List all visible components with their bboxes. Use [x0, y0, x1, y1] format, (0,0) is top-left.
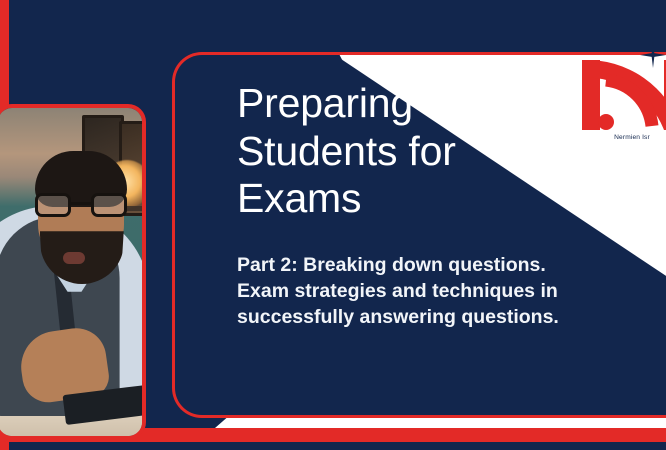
brand-logo: Nermien Isr: [572, 56, 666, 141]
nermien-n-icon: [582, 60, 666, 135]
logo-mark: [578, 56, 666, 130]
presentation-slide: Preparing Our Students for Exams Part 2:…: [0, 0, 666, 450]
bottom-white-strip: [215, 417, 666, 428]
glasses-icon: [35, 193, 127, 217]
bottom-navy-strip: [0, 442, 666, 450]
slide-subtitle: Part 2: Breaking down questions. Exam st…: [237, 253, 589, 331]
glasses-bridge: [71, 202, 91, 205]
presenter-webcam-tile[interactable]: [0, 104, 146, 440]
glasses-lens-right: [91, 193, 127, 217]
glasses-lens-left: [35, 193, 71, 217]
slide-title: Preparing Our Students for Exams: [237, 80, 557, 223]
logo-wordmark: Nermien Isr: [572, 134, 666, 141]
star-sparkle-icon: [640, 42, 666, 68]
presenter-video-frame: [0, 108, 142, 436]
presenter-mouth: [63, 252, 85, 264]
